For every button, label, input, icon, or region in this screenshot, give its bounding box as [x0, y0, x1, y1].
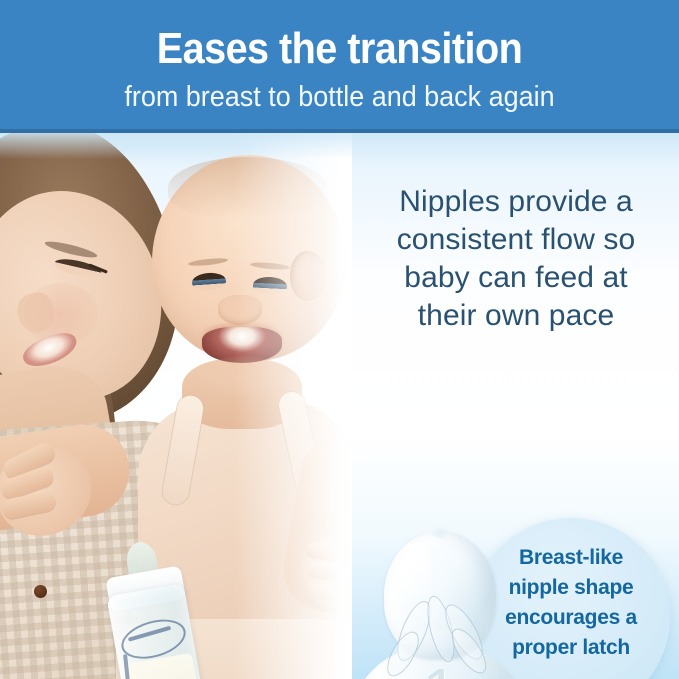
copy-line-1: Nipples provide a — [360, 183, 672, 221]
nipple-tip-hole — [432, 527, 450, 539]
photo-right-fade — [234, 133, 352, 679]
copy-line-3: baby can feed at — [360, 259, 672, 297]
main-copy-block: Nipples provide a consistent flow so bab… — [360, 183, 672, 335]
copy-line-2: consistent flow so — [360, 221, 672, 259]
copy-line-4: their own pace — [360, 297, 672, 335]
banner-headline: Eases the transition — [34, 24, 645, 74]
lifestyle-photo — [0, 133, 352, 679]
mother-shirt-button — [34, 585, 47, 598]
content-stage: Nipples provide a consistent flow so bab… — [0, 133, 679, 679]
photo-top-fade — [0, 133, 352, 159]
header-banner: Eases the transition from breast to bott… — [0, 0, 679, 133]
nipple-flow-level-number: 1 — [352, 661, 528, 679]
banner-subheadline: from breast to bottle and back again — [24, 80, 655, 114]
product-feature-poster: Eases the transition from breast to bott… — [0, 0, 679, 679]
